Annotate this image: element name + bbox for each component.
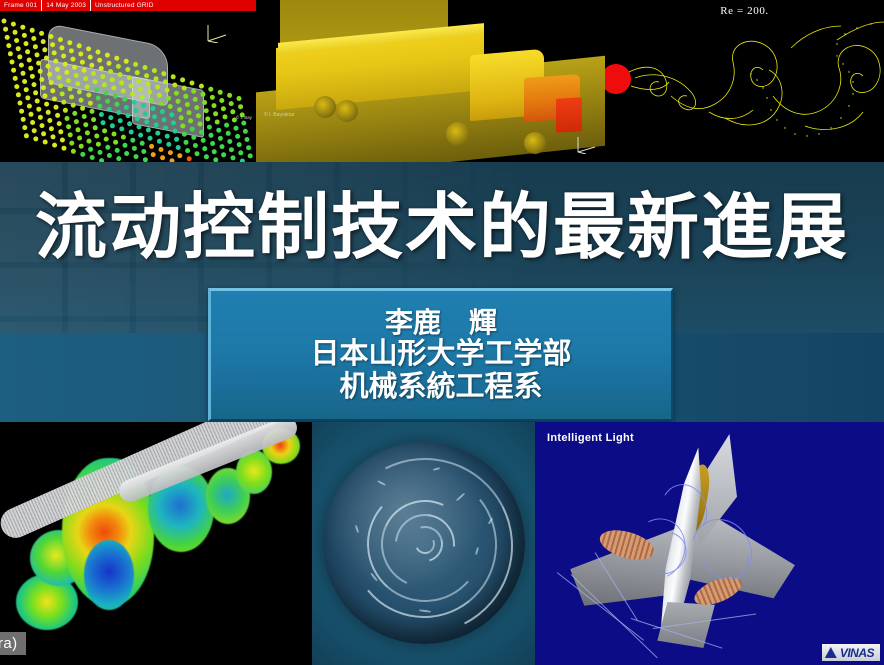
truck-wheel-mid (446, 122, 470, 146)
truck-wheel-rear-1 (314, 96, 336, 118)
affiliation-line-1: 日本山形大学工学部 (310, 338, 571, 370)
subtitle-box: 李鹿 輝 日本山形大学工学部 机械系統工程系 (208, 288, 673, 421)
top-image-row: Frame 001 14 May 2003 Unstructured GRID … (0, 0, 884, 162)
vortex-isosurface-visualization: kira) (0, 422, 312, 665)
karman-vortex-street: Re = 200. (605, 0, 884, 162)
vinas-logo-text: VINAS (840, 646, 874, 660)
axis-triad-icon (575, 134, 599, 154)
spiral-vortex-sphere (312, 422, 535, 665)
truck-watermark: © I. Bayraktar (264, 112, 295, 118)
vinas-triangle-icon (825, 647, 837, 658)
vinas-logo: VINAS (822, 644, 880, 661)
bottom-image-row: kira) Intelli (0, 422, 884, 665)
affiliation-line-2: 机械系統工程系 (339, 371, 542, 403)
axis-triad-icon (204, 21, 230, 43)
truck-front-fascia (556, 97, 582, 132)
truck-wheel-rear-2 (336, 100, 358, 122)
unstructured-grid-visualization: Frame 001 14 May 2003 Unstructured GRID … (0, 0, 256, 162)
intelligent-light-label: Intelligent Light (547, 432, 634, 444)
slide-title: 流动控制技术的最新進展 (0, 168, 884, 272)
presentation-slide: Frame 001 14 May 2003 Unstructured GRID … (0, 0, 884, 665)
truck-cfd-visualization: © I. Bayraktar (256, 0, 605, 162)
grid-body: © I. Bay (0, 11, 256, 162)
aircraft-cfd-visualization: Intelligent Light VINAS (535, 422, 884, 665)
truck-wheel-front (524, 132, 546, 154)
grid-header-title: Unstructured GRID (91, 0, 158, 11)
isosurface-lobe-blue-core (84, 540, 134, 610)
grid-header-frame: Frame 001 (0, 0, 42, 11)
vortex-caption-tag: kira) (0, 632, 26, 655)
grid-header-bar: Frame 001 14 May 2003 Unstructured GRID (0, 0, 256, 11)
grid-watermark: © I. Bay (236, 115, 252, 120)
grid-header-date: 14 May 2003 (42, 0, 91, 11)
sphere-body (323, 442, 525, 644)
vortex-streamlines (605, 0, 884, 162)
author-name: 李鹿 輝 (385, 307, 497, 338)
